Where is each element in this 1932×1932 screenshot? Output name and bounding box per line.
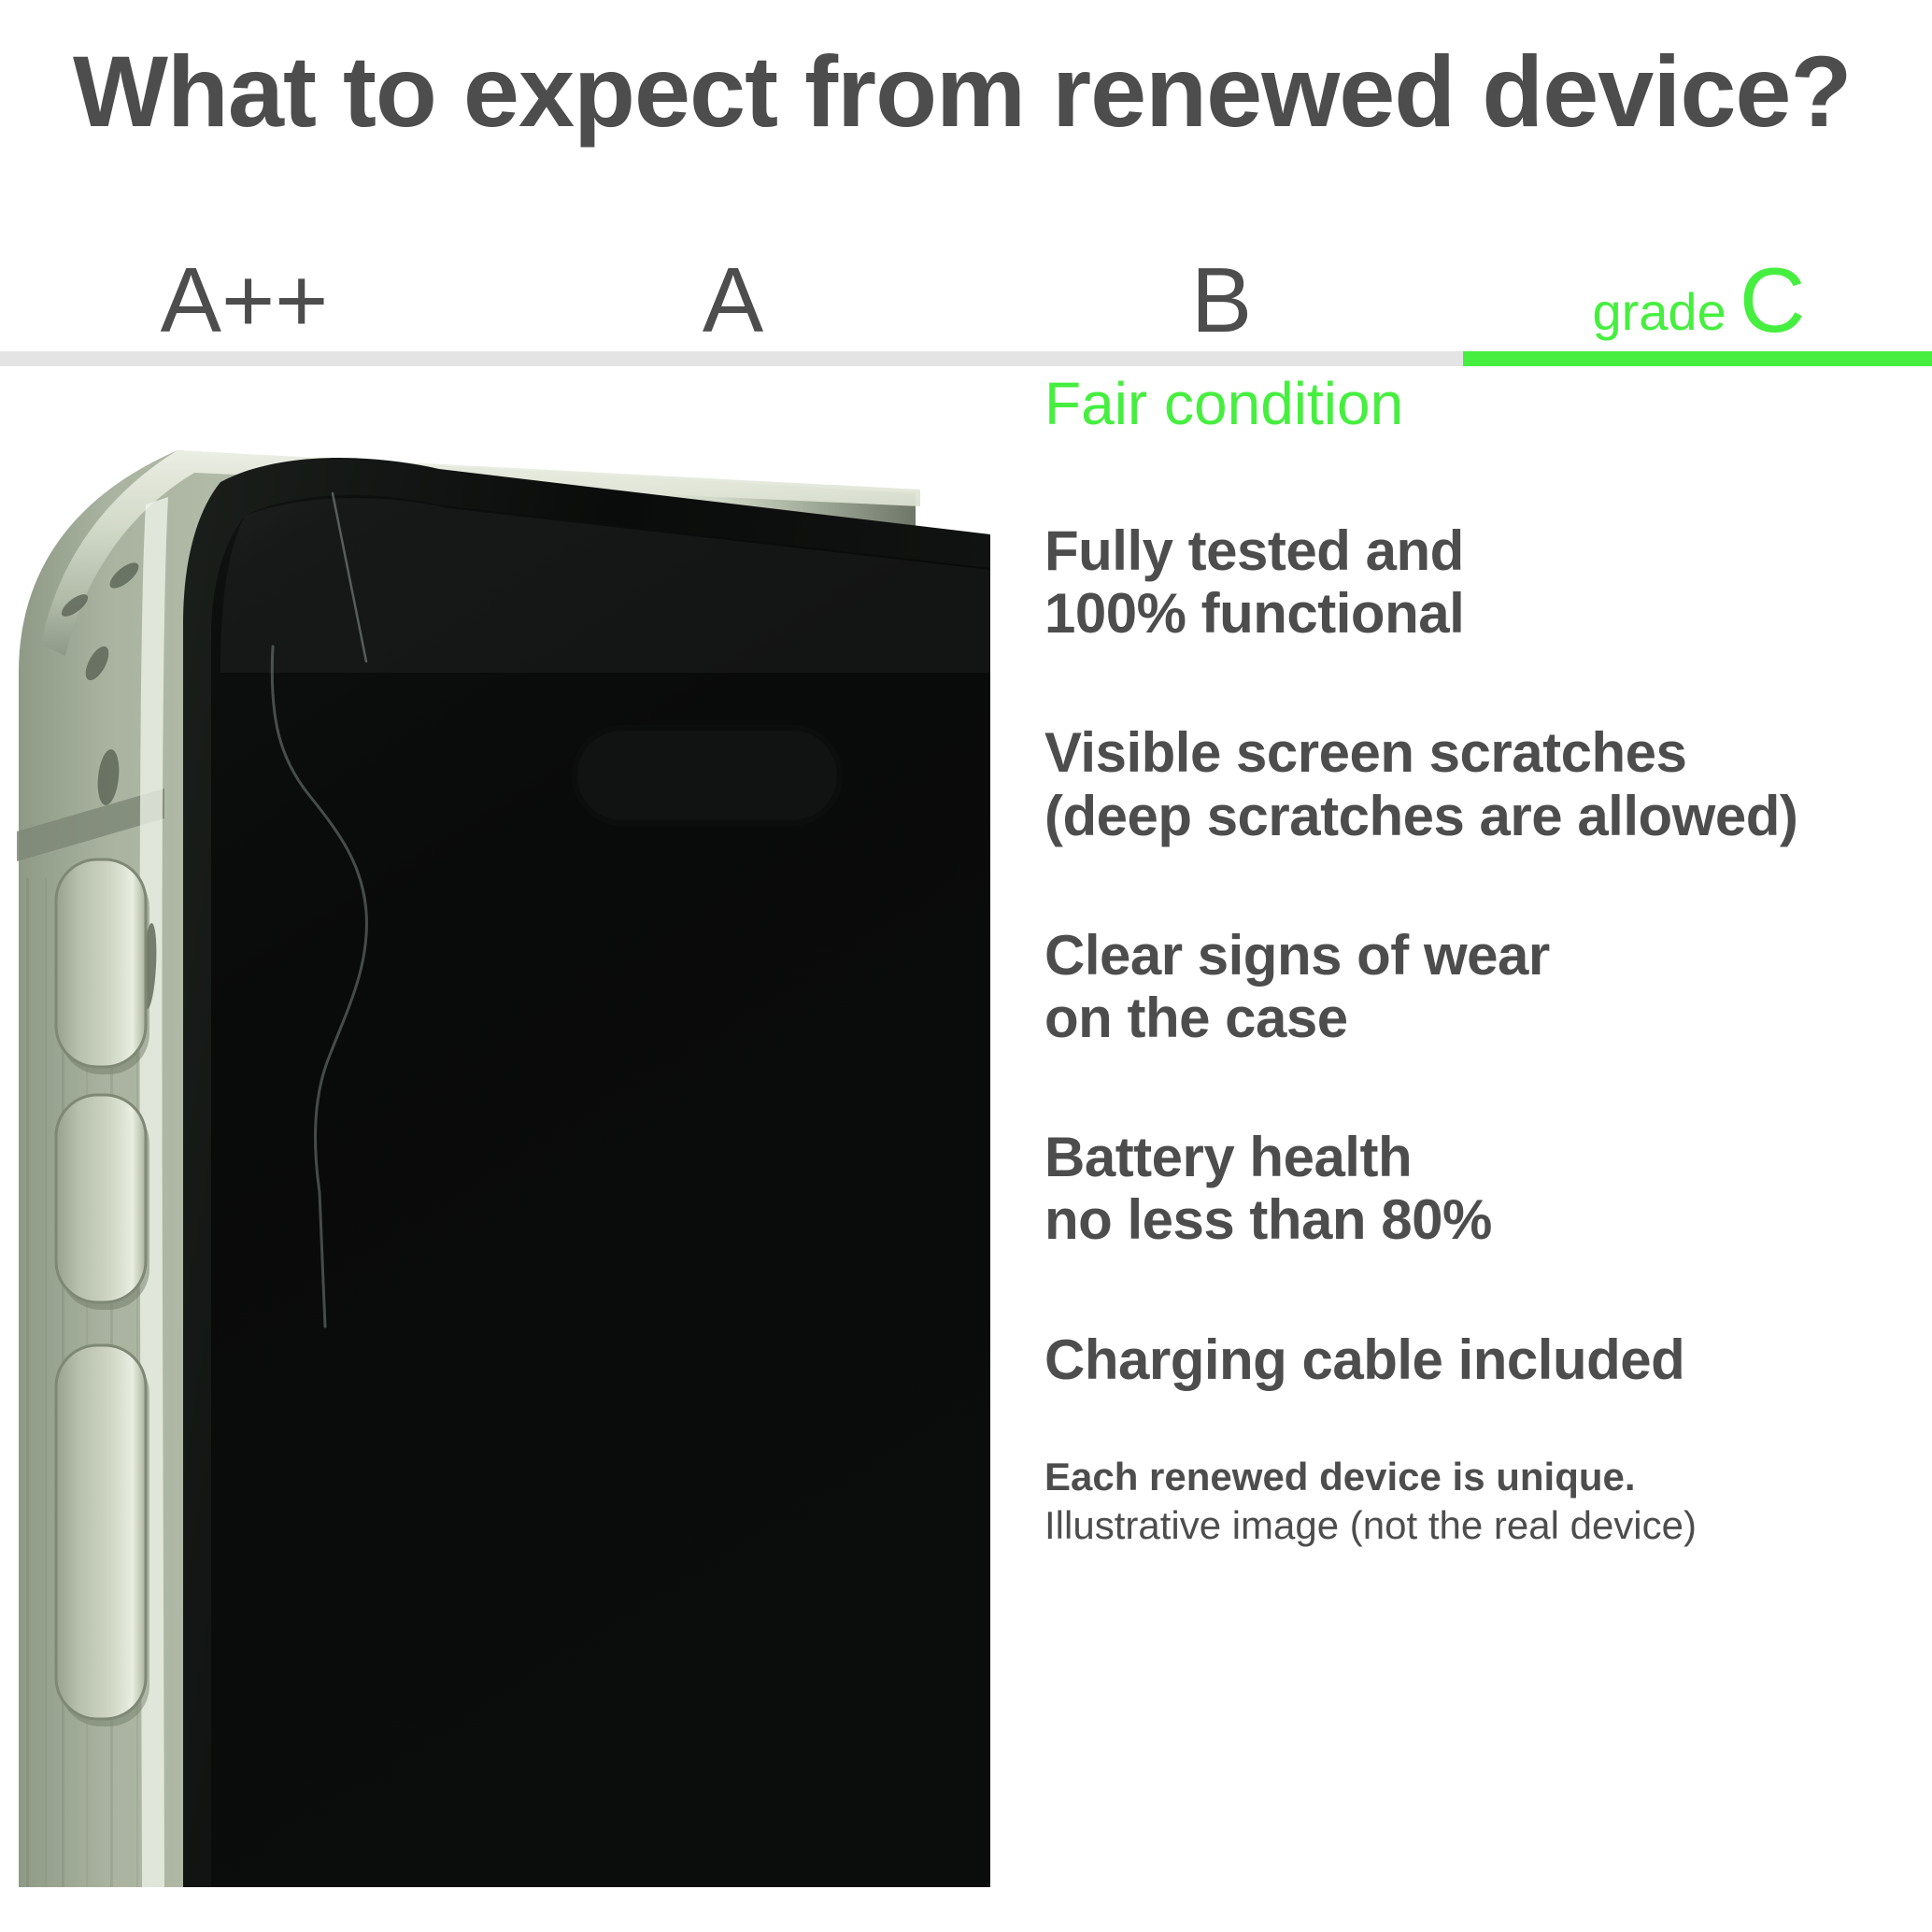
device-details-column: Fair condition Fully tested and 100% fun…	[1044, 374, 1913, 1551]
device-svg	[0, 392, 990, 1887]
tab-grade-c-prefix-label: grade	[1592, 286, 1726, 351]
device-screen	[211, 495, 990, 1887]
device-volume-down-button[interactable]	[56, 1095, 149, 1310]
tab-grade-a-plus-plus-label: A++	[161, 254, 329, 351]
feature-item-functional-line-2: 100% functional	[1044, 582, 1913, 645]
feature-item-charging-cable-line-1: Charging cable included	[1044, 1328, 1913, 1391]
grade-tab-bar: A++ A B grade C	[0, 213, 1932, 364]
tab-active-indicator	[1463, 351, 1932, 366]
tab-grade-a-plus-plus[interactable]: A++	[0, 213, 489, 351]
tab-grade-a-label: A	[703, 254, 763, 351]
feature-item-screen-scratches-line-2: (deep scratches are allowed)	[1044, 785, 1913, 847]
tab-grade-a[interactable]: A	[489, 213, 977, 351]
feature-item-battery-health-line-1: Battery health	[1044, 1126, 1913, 1188]
tab-grade-c[interactable]: grade C	[1466, 213, 1932, 351]
tab-grade-b[interactable]: B	[977, 213, 1466, 351]
device-volume-up-button[interactable]	[56, 859, 149, 1074]
feature-item-functional-line-1: Fully tested and	[1044, 519, 1913, 582]
feature-item-charging-cable: Charging cable included	[1044, 1328, 1913, 1391]
condition-heading: Fair condition	[1044, 374, 1913, 433]
tab-grade-c-label: C	[1740, 254, 1806, 351]
feature-item-functional: Fully tested and 100% functional	[1044, 519, 1913, 645]
device-dynamic-island	[572, 725, 843, 826]
device-screen-assembly	[183, 458, 990, 1887]
feature-item-case-wear: Clear signs of wear on the case	[1044, 924, 1913, 1049]
page-title: What to expect from renewed device?	[73, 36, 1904, 149]
feature-item-case-wear-line-1: Clear signs of wear	[1044, 924, 1913, 987]
feature-item-case-wear-line-2: on the case	[1044, 987, 1913, 1049]
tab-grade-b-label: B	[1191, 254, 1252, 351]
disclaimer-line-1: Each renewed device is unique.	[1044, 1453, 1913, 1502]
feature-item-battery-health-line-2: no less than 80%	[1044, 1188, 1913, 1251]
disclaimer: Each renewed device is unique. Illustrat…	[1044, 1453, 1913, 1551]
device-illustration	[0, 392, 990, 1887]
feature-item-screen-scratches: Visible screen scratches (deep scratches…	[1044, 721, 1913, 846]
feature-item-screen-scratches-line-1: Visible screen scratches	[1044, 721, 1913, 784]
disclaimer-line-2: Illustrative image (not the real device)	[1044, 1501, 1913, 1551]
feature-item-battery-health: Battery health no less than 80%	[1044, 1126, 1913, 1251]
device-action-button[interactable]	[56, 1345, 149, 1726]
